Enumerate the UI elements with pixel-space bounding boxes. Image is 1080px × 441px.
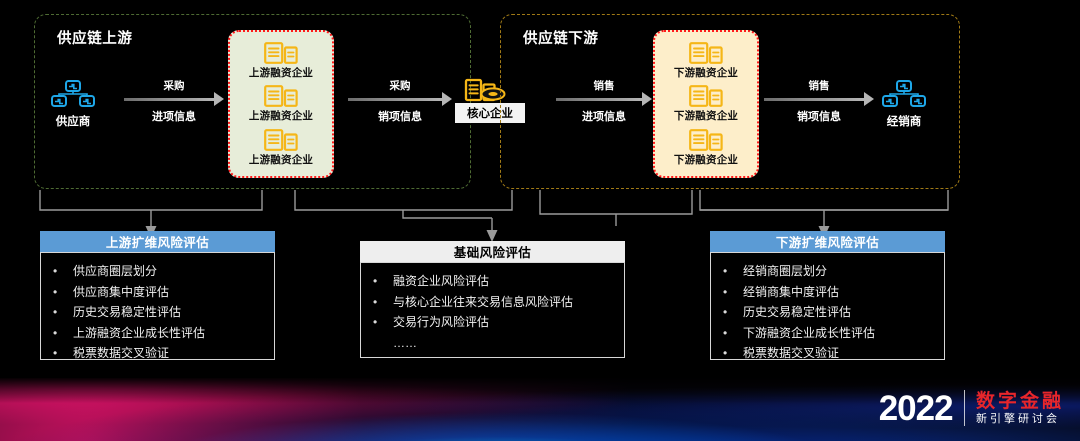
arrow-core-to-downstream: 销售 进项信息 bbox=[556, 83, 652, 117]
network-nodes-icon bbox=[49, 80, 97, 110]
arrow-2-line bbox=[348, 98, 443, 101]
upstream-financing-item: 上游融资企业 bbox=[249, 129, 313, 167]
upstream-section-title: 供应链上游 bbox=[57, 27, 133, 48]
list-item-label: 经销商集中度评估 bbox=[743, 282, 839, 303]
upstream-financing-item: 上游融资企业 bbox=[249, 85, 313, 123]
arrow-1-line bbox=[124, 98, 215, 101]
arrow-4-line bbox=[764, 98, 865, 101]
upstream-financing-card: 上游融资企业 上游融资企业 上游 bbox=[228, 30, 334, 178]
downstream-financing-item: 下游融资企业 bbox=[674, 85, 738, 123]
supplier-node: 供应商 bbox=[49, 80, 97, 129]
list-item: •税票数据交叉验证 bbox=[723, 343, 938, 364]
panel-downstream-body: •经销商圈层划分 •经销商集中度评估 •历史交易稳定性评估 •下游融资企业成长性… bbox=[710, 252, 945, 360]
downstream-financing-item: 下游融资企业 bbox=[674, 42, 738, 80]
list-item: •税票数据交叉验证 bbox=[53, 343, 268, 364]
list-item-label: 下游融资企业成长性评估 bbox=[743, 323, 875, 344]
event-logo: 2022 数字金融 新引擎研讨会 bbox=[879, 383, 1064, 433]
arrow-4-head bbox=[864, 92, 874, 106]
panel-upstream-risk: 上游扩维风险评估 •供应商圈层划分 •供应商集中度评估 •历史交易稳定性评估 •… bbox=[40, 231, 275, 360]
list-item-label: 与核心企业往来交易信息风险评估 bbox=[393, 292, 573, 313]
book-ledger-icon bbox=[264, 129, 298, 151]
upstream-financing-label: 上游融资企业 bbox=[249, 65, 313, 80]
arrow-downstream-to-dealer: 销售 销项信息 bbox=[764, 83, 874, 117]
panel-base-body: •融资企业风险评估 •与核心企业往来交易信息风险评估 •交易行为风险评估 •…… bbox=[360, 262, 625, 358]
list-item: •经销商集中度评估 bbox=[723, 282, 938, 303]
book-ledger-icon bbox=[264, 85, 298, 107]
arrow-3-line bbox=[556, 98, 643, 101]
upstream-financing-label: 上游融资企业 bbox=[249, 152, 313, 167]
arrow-1-head bbox=[214, 92, 224, 106]
list-item: •供应商圈层划分 bbox=[53, 261, 268, 282]
list-item-label: 融资企业风险评估 bbox=[393, 271, 489, 292]
upstream-financing-label: 上游融资企业 bbox=[249, 108, 313, 123]
list-item: •供应商集中度评估 bbox=[53, 282, 268, 303]
arrow-2-top-label: 采购 bbox=[348, 78, 452, 93]
book-ledger-icon bbox=[689, 42, 723, 64]
downstream-financing-label: 下游融资企业 bbox=[674, 65, 738, 80]
panel-downstream-risk: 下游扩维风险评估 •经销商圈层划分 •经销商集中度评估 •历史交易稳定性评估 •… bbox=[710, 231, 945, 360]
list-item-label: …… bbox=[393, 333, 417, 354]
arrow-1-bottom-label: 进项信息 bbox=[124, 108, 224, 124]
panel-upstream-body: •供应商圈层划分 •供应商集中度评估 •历史交易稳定性评估 •上游融资企业成长性… bbox=[40, 252, 275, 360]
list-item: •上游融资企业成长性评估 bbox=[53, 323, 268, 344]
list-item-label: 上游融资企业成长性评估 bbox=[73, 323, 205, 344]
book-ledger-icon bbox=[689, 129, 723, 151]
list-item-label: 供应商集中度评估 bbox=[73, 282, 169, 303]
list-item-label: 供应商圈层划分 bbox=[73, 261, 157, 282]
list-item-label: 经销商圈层划分 bbox=[743, 261, 827, 282]
dealer-node: 经销商 bbox=[880, 80, 928, 129]
supplier-label: 供应商 bbox=[56, 113, 91, 129]
downstream-financing-item: 下游融资企业 bbox=[674, 129, 738, 167]
list-item: •历史交易稳定性评估 bbox=[53, 302, 268, 323]
arrow-upstream-to-core: 采购 销项信息 bbox=[348, 83, 452, 117]
logo-subtitle: 新引擎研讨会 bbox=[976, 414, 1064, 425]
arrow-2-bottom-label: 销项信息 bbox=[348, 108, 452, 124]
network-nodes-icon bbox=[880, 80, 928, 110]
logo-main-title: 数字金融 bbox=[976, 392, 1064, 411]
list-item-label: 历史交易稳定性评估 bbox=[743, 302, 851, 323]
logo-year: 2022 bbox=[879, 391, 953, 426]
downstream-financing-label: 下游融资企业 bbox=[674, 108, 738, 123]
logo-text-group: 数字金融 新引擎研讨会 bbox=[976, 392, 1064, 425]
list-item-label: 税票数据交叉验证 bbox=[73, 343, 169, 364]
downstream-financing-label: 下游融资企业 bbox=[674, 152, 738, 167]
list-item-label: 税票数据交叉验证 bbox=[743, 343, 839, 364]
arrow-3-bottom-label: 进项信息 bbox=[556, 108, 652, 124]
arrow-3-top-label: 销售 bbox=[556, 78, 652, 93]
list-item-ellipsis: •…… bbox=[373, 333, 618, 354]
slide-canvas: 供应链上游 供应商 采购 进项信息 bbox=[0, 0, 1080, 441]
panel-base-risk: 基础风险评估 •融资企业风险评估 •与核心企业往来交易信息风险评估 •交易行为风… bbox=[360, 241, 625, 358]
list-item: •融资企业风险评估 bbox=[373, 271, 618, 292]
downstream-section-title: 供应链下游 bbox=[523, 27, 599, 48]
arrow-4-top-label: 销售 bbox=[764, 78, 874, 93]
panel-downstream-title: 下游扩维风险评估 bbox=[710, 231, 945, 252]
arrow-supplier-to-upstream: 采购 进项信息 bbox=[124, 83, 224, 117]
panel-upstream-title: 上游扩维风险评估 bbox=[40, 231, 275, 252]
arrow-2-head bbox=[442, 92, 452, 106]
downstream-financing-card: 下游融资企业 下游融资企业 下游 bbox=[653, 30, 759, 178]
list-item: •经销商圈层划分 bbox=[723, 261, 938, 282]
arrow-1-top-label: 采购 bbox=[124, 78, 224, 93]
logo-divider bbox=[964, 390, 965, 426]
panel-base-title: 基础风险评估 bbox=[360, 241, 625, 262]
book-ledger-icon bbox=[689, 85, 723, 107]
list-item: •下游融资企业成长性评估 bbox=[723, 323, 938, 344]
list-item: •历史交易稳定性评估 bbox=[723, 302, 938, 323]
list-item-label: 交易行为风险评估 bbox=[393, 312, 489, 333]
list-item: •与核心企业往来交易信息风险评估 bbox=[373, 292, 618, 313]
list-item: •交易行为风险评估 bbox=[373, 312, 618, 333]
upstream-financing-item: 上游融资企业 bbox=[249, 42, 313, 80]
list-item-label: 历史交易稳定性评估 bbox=[73, 302, 181, 323]
book-ledger-icon bbox=[264, 42, 298, 64]
arrow-4-bottom-label: 销项信息 bbox=[764, 108, 874, 124]
arrow-3-head bbox=[642, 92, 652, 106]
dealer-label: 经销商 bbox=[887, 113, 922, 129]
